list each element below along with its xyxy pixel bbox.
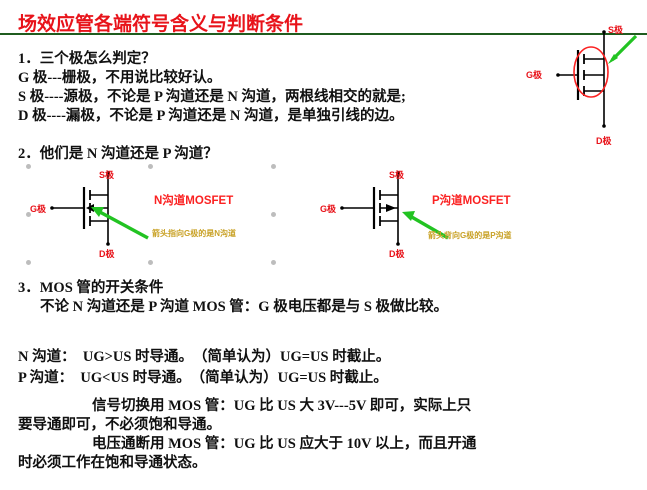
- text-line-question-3: 3．MOS 管的开关条件: [18, 276, 163, 297]
- label-source-p-channel: S极: [389, 168, 404, 181]
- selection-handle-nw[interactable]: [26, 164, 31, 169]
- mosfet-symbol-p-channel-svg: [318, 166, 498, 266]
- label-drain-p-channel: D极: [389, 247, 405, 260]
- mosfet-diagram-p-channel[interactable]: S极 G极 D极 P沟道MOSFET 箭头背向G极的是P沟道: [318, 166, 598, 266]
- selection-handle-s[interactable]: [148, 260, 153, 265]
- text-line-gate-pole: G 极---栅极，不用说比较好认。: [18, 66, 221, 87]
- text-line-question-3-sub: 不论 N 沟道还是 P 沟道 MOS 管：G 极电压都是与 S 极做比较。: [40, 295, 448, 316]
- text-line-p-condition: P 沟道： UG<US 时导通。 （简单认为）UG=US 时截止。: [18, 366, 388, 387]
- page-title: 场效应管各端符号含义与判断条件: [18, 9, 303, 36]
- mosfet-diagram-n-channel[interactable]: S极 G极 D极 N沟道MOSFET 箭头指向G极的是N沟道: [28, 166, 308, 266]
- text-line-source-pole: S 极----源极，不论是 P 沟道还是 N 沟道，两根线相交的就是;: [18, 85, 406, 106]
- caption-p-channel-mosfet: P沟道MOSFET: [432, 192, 511, 208]
- label-source-top-right: S极: [608, 23, 623, 36]
- mosfet-diagram-top-right: S极 G极 D极: [512, 14, 647, 154]
- text-line-question-1: 1．三个极怎么判定？: [18, 47, 156, 68]
- text-line-signal-mos-1: 信号切换用 MOS 管：UG 比 US 大 3V---5V 即可，实际上只: [92, 394, 471, 415]
- pointer-arrow: [91, 207, 148, 238]
- label-drain-top-right: D极: [596, 134, 612, 147]
- selection-handle-sw[interactable]: [26, 260, 31, 265]
- selection-handle-se[interactable]: [271, 260, 276, 265]
- label-gate-p-channel: G极: [320, 202, 336, 215]
- selection-handle-ne[interactable]: [271, 164, 276, 169]
- caption-n-channel-mosfet: N沟道MOSFET: [154, 192, 233, 208]
- mosfet-symbol-n-channel-svg: [28, 166, 208, 266]
- text-line-question-2: 2．他们是 N 沟道还是 P 沟道？: [18, 142, 218, 163]
- text-line-drain-pole: D 极----漏极，不论是 P 沟道还是 N 沟道，是单独引线的边。: [18, 104, 403, 125]
- text-line-n-condition: N 沟道： UG>US 时导通。 （简单认为）UG=US 时截止。: [18, 345, 390, 366]
- selection-handle-w[interactable]: [26, 212, 31, 217]
- text-line-signal-mos-2: 要导通即可，不必须饱和导通。: [18, 413, 221, 434]
- label-source-n-channel: S极: [99, 168, 114, 181]
- text-line-voltage-mos-2: 时必须工作在饱和导通状态。: [18, 451, 207, 472]
- label-drain-n-channel: D极: [99, 247, 115, 260]
- label-gate-top-right: G极: [526, 68, 542, 81]
- mosfet-symbol-top-right-svg: [512, 14, 647, 154]
- pointer-arrow: [608, 36, 636, 64]
- annotation-p-channel: 箭头背向G极的是P沟道: [428, 230, 512, 241]
- text-line-voltage-mos-1: 电压通断用 MOS 管：UG 比 US 应大于 10V 以上，而且开通: [92, 432, 476, 453]
- selection-handle-e[interactable]: [271, 212, 276, 217]
- annotation-n-channel: 箭头指向G极的是N沟道: [152, 228, 236, 239]
- slide-page: 场效应管各端符号含义与判断条件 1．三个极怎么判定？ G 极---栅极，不用说比…: [0, 0, 647, 490]
- selection-handle-n[interactable]: [148, 164, 153, 169]
- label-gate-n-channel: G极: [30, 202, 46, 215]
